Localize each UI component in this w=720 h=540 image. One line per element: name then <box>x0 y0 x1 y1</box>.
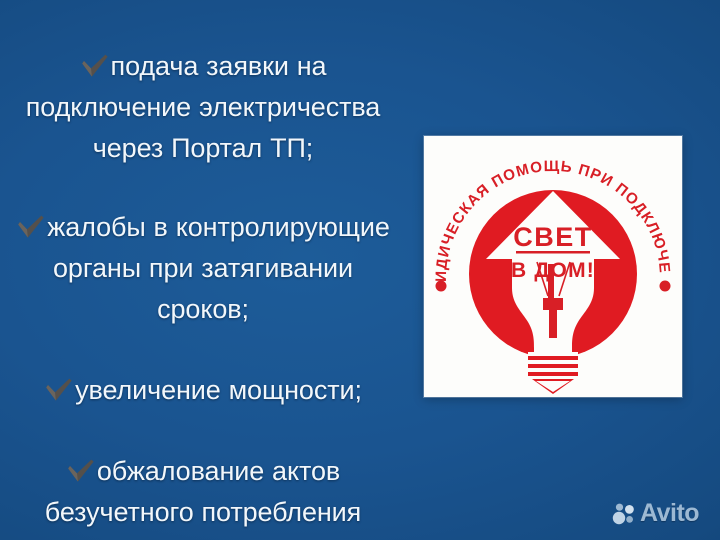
list-item-line: жалобы в контролирующие <box>47 212 390 242</box>
logo-title-underline <box>516 251 590 254</box>
service-list: подача заявки на подключение электричест… <box>0 0 410 540</box>
list-item-line: обжалование актов <box>97 456 340 486</box>
logo-dot-right <box>660 281 671 292</box>
list-item-line: безучетного потребления <box>45 497 361 527</box>
logo-title-line2: В ДОМ! <box>511 259 595 282</box>
logo-dot-left <box>436 281 447 292</box>
list-item-line: органы при затягивании <box>53 253 353 283</box>
list-item-line: подключение электричества <box>26 92 380 122</box>
list-item: увеличение мощности; <box>14 370 392 411</box>
promo-poster: подача заявки на подключение электричест… <box>0 0 720 540</box>
logo-title-line1: СВЕТ <box>513 222 593 252</box>
bulb-base-icon <box>528 352 578 394</box>
list-item-line: подача заявки на <box>111 51 327 81</box>
check-mark-icon <box>80 52 110 80</box>
avito-watermark: Avito <box>612 501 699 526</box>
avito-wordmark: Avito <box>640 501 699 526</box>
list-item-line: увеличение мощности; <box>75 375 362 405</box>
list-item: обжалование актов безучетного потреблени… <box>14 451 392 533</box>
list-item: подача заявки на подключение электричест… <box>14 46 392 169</box>
check-mark-icon <box>66 457 96 485</box>
company-logo: СВЕТ В ДОМ! ЮРИДИЧЕСКАЯ ПОМОЩЬ ПРИ ПОДКЛ… <box>424 136 682 397</box>
check-mark-icon <box>44 376 74 404</box>
avito-dots-icon <box>612 502 636 526</box>
list-item-line: сроков; <box>157 294 249 324</box>
list-item-line: через Портал ТП; <box>93 133 313 163</box>
company-logo-card: СВЕТ В ДОМ! ЮРИДИЧЕСКАЯ ПОМОЩЬ ПРИ ПОДКЛ… <box>424 136 682 397</box>
check-mark-icon <box>16 213 46 241</box>
bulb-filament-post <box>549 308 557 338</box>
list-item: жалобы в контролирующие органы при затяг… <box>14 207 392 330</box>
